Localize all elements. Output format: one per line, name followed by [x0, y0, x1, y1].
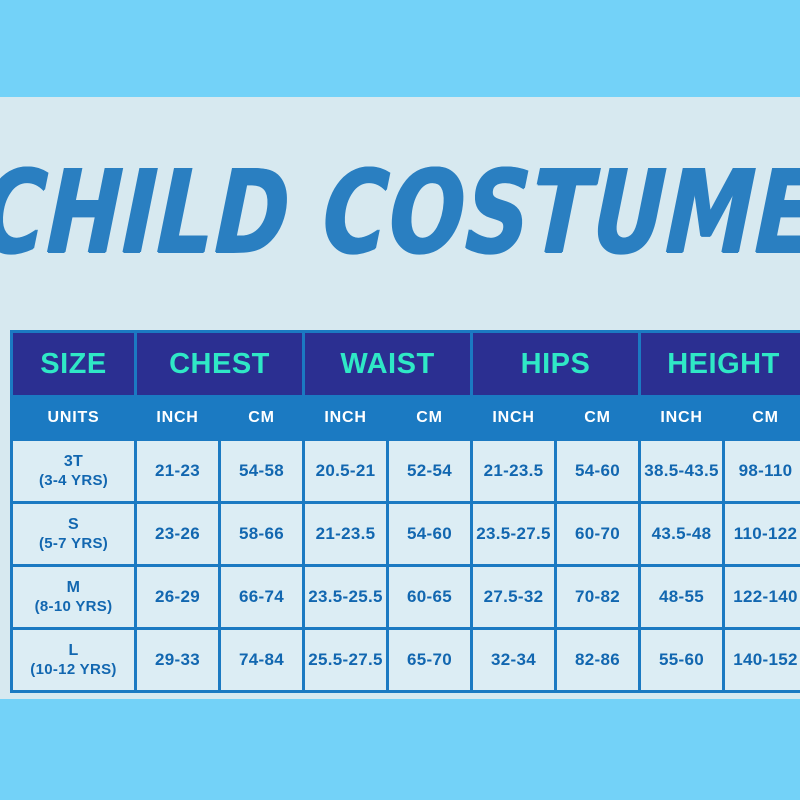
- cell-size: S (5-7 YRS): [13, 504, 134, 564]
- cell-height-inch: 55-60: [641, 630, 722, 690]
- cell-waist-cm: 65-70: [389, 630, 470, 690]
- table-row: S (5-7 YRS) 23-26 58-66 21-23.5 54-60 23…: [13, 504, 800, 564]
- cell-height-cm: 122-140: [725, 567, 800, 627]
- cell-hips-inch: 27.5-32: [473, 567, 554, 627]
- cell-height-cm: 98-110: [725, 441, 800, 501]
- group-header-hips: HIPS: [473, 333, 638, 395]
- title-area: CHILD COSTUME: [0, 143, 800, 283]
- unit-header-hips-cm: CM: [557, 398, 638, 438]
- cell-hips-cm: 82-86: [557, 630, 638, 690]
- cell-size: M (8-10 YRS): [13, 567, 134, 627]
- cell-waist-cm: 54-60: [389, 504, 470, 564]
- table-head: SIZE CHEST WAIST HIPS HEIGHT UNITS INCH …: [13, 333, 800, 438]
- unit-header-hips-inch: INCH: [473, 398, 554, 438]
- cell-chest-inch: 26-29: [137, 567, 218, 627]
- cell-size: L (10-12 YRS): [13, 630, 134, 690]
- page-title: CHILD COSTUME: [0, 155, 800, 270]
- cell-chest-cm: 58-66: [221, 504, 302, 564]
- bottom-color-band: [0, 699, 800, 800]
- cell-hips-cm: 60-70: [557, 504, 638, 564]
- cell-height-cm: 110-122: [725, 504, 800, 564]
- size-age: (3-4 YRS): [13, 472, 134, 491]
- cell-hips-inch: 23.5-27.5: [473, 504, 554, 564]
- unit-header-waist-inch: INCH: [305, 398, 386, 438]
- cell-height-cm: 140-152: [725, 630, 800, 690]
- cell-chest-cm: 66-74: [221, 567, 302, 627]
- table-row: M (8-10 YRS) 26-29 66-74 23.5-25.5 60-65…: [13, 567, 800, 627]
- cell-hips-inch: 21-23.5: [473, 441, 554, 501]
- cell-height-inch: 43.5-48: [641, 504, 722, 564]
- top-color-band: [0, 0, 800, 97]
- cell-waist-inch: 20.5-21: [305, 441, 386, 501]
- unit-header-chest-inch: INCH: [137, 398, 218, 438]
- cell-chest-inch: 29-33: [137, 630, 218, 690]
- size-chart-table: SIZE CHEST WAIST HIPS HEIGHT UNITS INCH …: [10, 330, 800, 693]
- cell-hips-inch: 32-34: [473, 630, 554, 690]
- cell-waist-inch: 23.5-25.5: [305, 567, 386, 627]
- unit-header-height-cm: CM: [725, 398, 800, 438]
- size-age: (10-12 YRS): [13, 661, 134, 680]
- cell-waist-cm: 52-54: [389, 441, 470, 501]
- size-chart-table-wrapper: SIZE CHEST WAIST HIPS HEIGHT UNITS INCH …: [10, 330, 790, 693]
- unit-header-height-inch: INCH: [641, 398, 722, 438]
- cell-size: 3T (3-4 YRS): [13, 441, 134, 501]
- unit-header-waist-cm: CM: [389, 398, 470, 438]
- cell-chest-cm: 54-58: [221, 441, 302, 501]
- group-header-row: SIZE CHEST WAIST HIPS HEIGHT: [13, 333, 800, 395]
- cell-chest-inch: 21-23: [137, 441, 218, 501]
- table-row: 3T (3-4 YRS) 21-23 54-58 20.5-21 52-54 2…: [13, 441, 800, 501]
- size-age: (5-7 YRS): [13, 535, 134, 554]
- unit-header-units: UNITS: [13, 398, 134, 438]
- size-label: 3T: [13, 452, 134, 472]
- cell-chest-cm: 74-84: [221, 630, 302, 690]
- cell-height-inch: 38.5-43.5: [641, 441, 722, 501]
- cell-hips-cm: 54-60: [557, 441, 638, 501]
- size-age: (8-10 YRS): [13, 598, 134, 617]
- group-header-waist: WAIST: [305, 333, 470, 395]
- cell-height-inch: 48-55: [641, 567, 722, 627]
- group-header-size: SIZE: [13, 333, 134, 395]
- group-header-height: HEIGHT: [641, 333, 800, 395]
- size-label: L: [13, 641, 134, 661]
- cell-waist-inch: 25.5-27.5: [305, 630, 386, 690]
- cell-hips-cm: 70-82: [557, 567, 638, 627]
- size-label: M: [13, 578, 134, 598]
- size-chart-page: CHILD COSTUME SIZE CHEST WAIST HIPS HEIG…: [0, 0, 800, 800]
- table-body: 3T (3-4 YRS) 21-23 54-58 20.5-21 52-54 2…: [13, 441, 800, 690]
- size-label: S: [13, 515, 134, 535]
- unit-header-chest-cm: CM: [221, 398, 302, 438]
- cell-waist-cm: 60-65: [389, 567, 470, 627]
- cell-chest-inch: 23-26: [137, 504, 218, 564]
- table-row: L (10-12 YRS) 29-33 74-84 25.5-27.5 65-7…: [13, 630, 800, 690]
- cell-waist-inch: 21-23.5: [305, 504, 386, 564]
- group-header-chest: CHEST: [137, 333, 302, 395]
- unit-header-row: UNITS INCH CM INCH CM INCH CM INCH CM: [13, 398, 800, 438]
